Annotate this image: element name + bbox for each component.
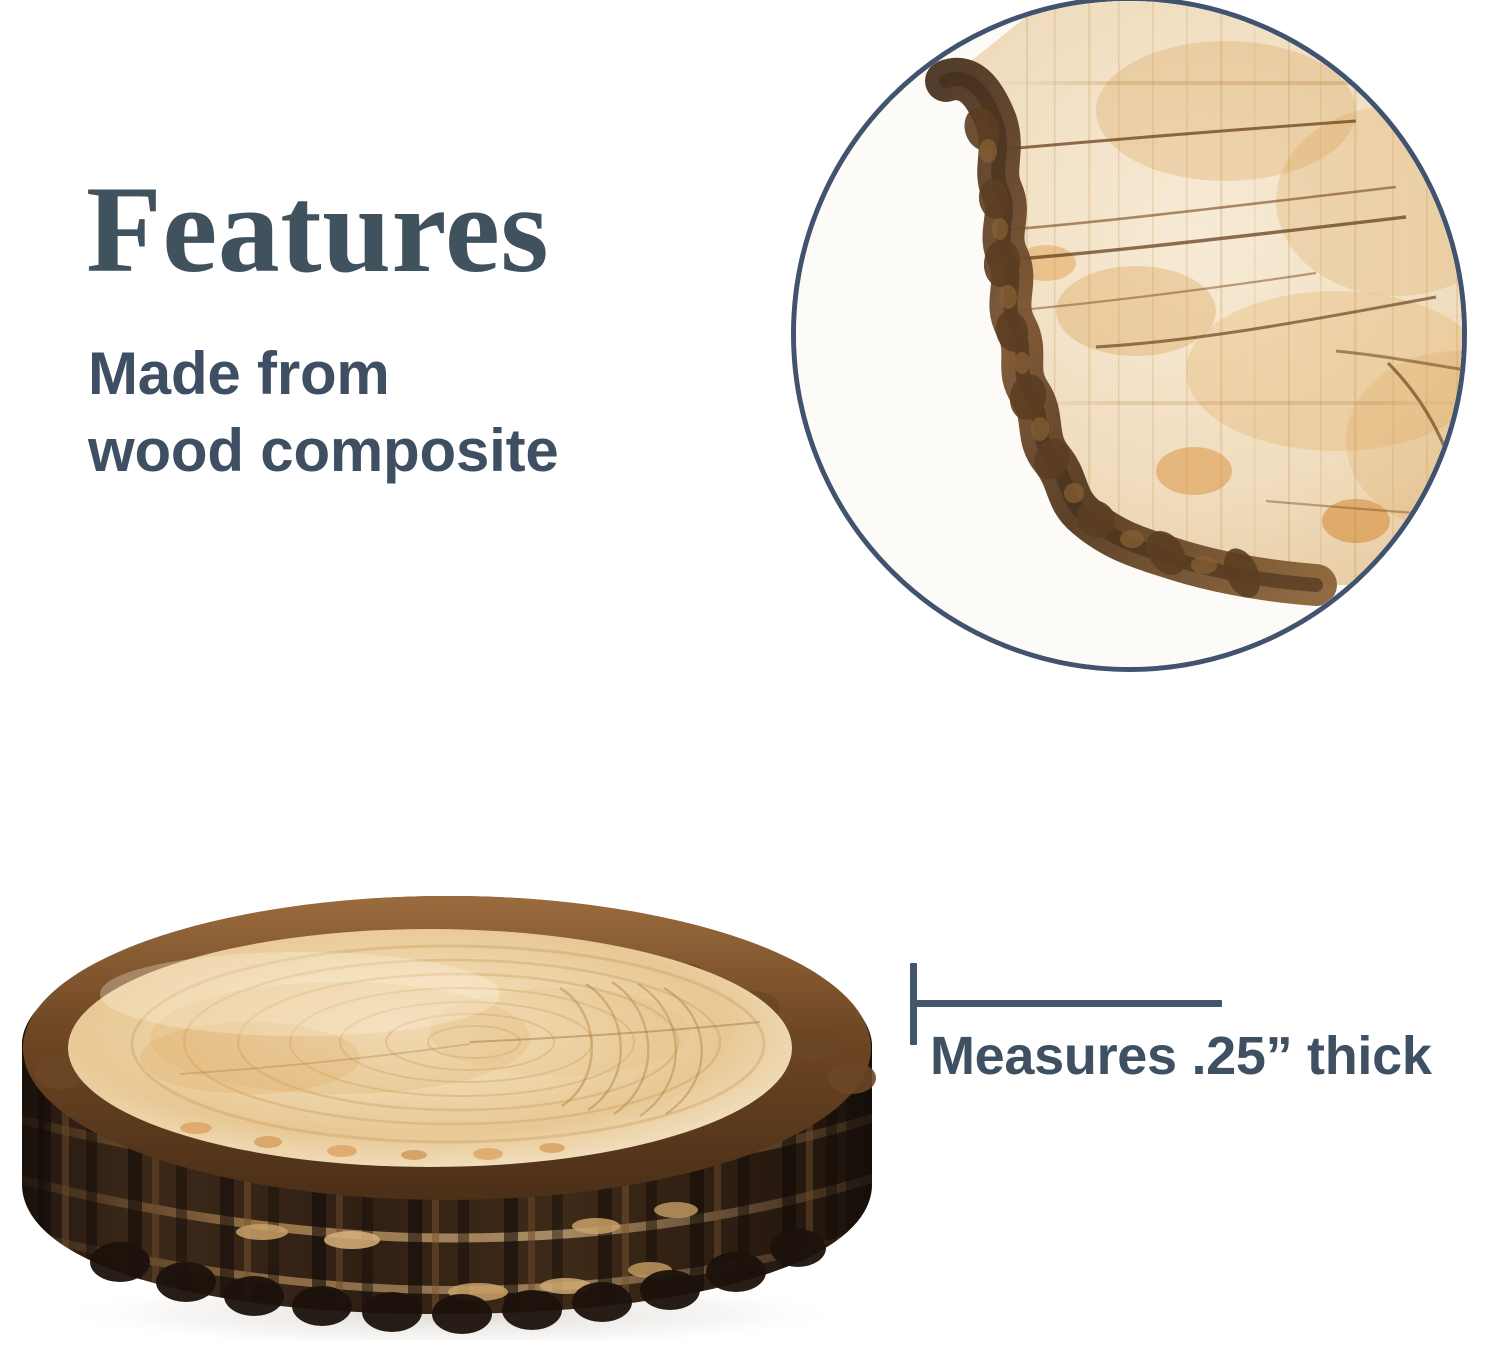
wood-edge-closeup-image [796,1,1462,667]
wood-stack-illustration [0,862,900,1340]
infographic-page: Features Made from wood composite [0,0,1500,1346]
feature-description: Made from wood composite [88,336,559,490]
page-title: Features [86,168,549,292]
zoom-inset-circle [791,0,1467,672]
measure-label: Measures .25” thick [930,1028,1432,1085]
measure-rule-line [910,1000,1222,1007]
stacked-wood-slices-image [0,862,900,1340]
thickness-callout: Measures .25” thick [905,960,1485,1090]
